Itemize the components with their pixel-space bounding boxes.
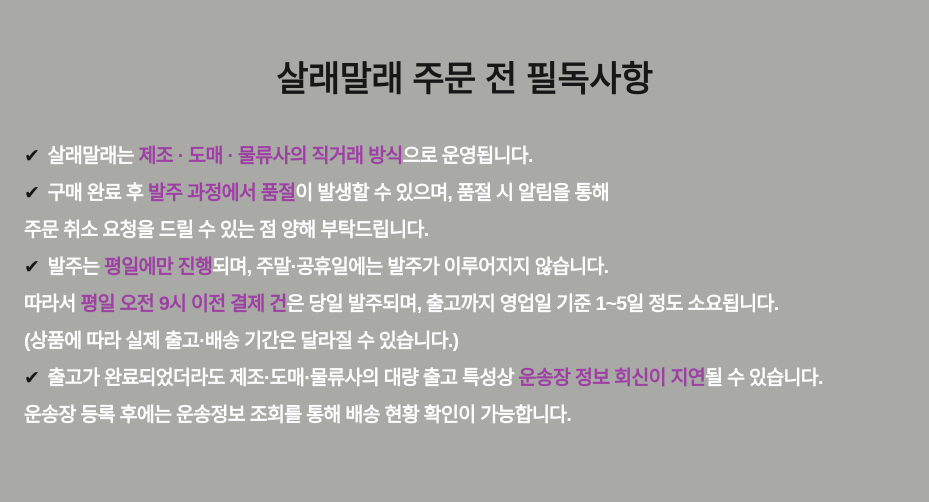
- check-icon: ✔: [24, 146, 43, 167]
- notice-text: 살래말래는: [43, 145, 139, 167]
- check-icon: ✔: [24, 257, 43, 278]
- check-icon: ✔: [24, 368, 43, 389]
- notice-line: (상품에 따라 실제 출고·배송 기간은 달라질 수 있습니다.): [24, 323, 919, 360]
- notice-line: ✔ 발주는 평일에만 진행되며, 주말·공휴일에는 발주가 이루어지지 않습니다…: [24, 249, 919, 286]
- notice-text: 출고가 완료되었더라도 제조·도매·물류사의 대량 출고 특성상: [43, 367, 519, 389]
- notice-text-highlight: 평일에만 진행: [104, 256, 212, 278]
- notice-text: 은 당일 발주되며, 출고까지 영업일 기준 1~5일 정도 소요됩니다.: [287, 293, 779, 315]
- notice-text: 따라서: [24, 293, 80, 315]
- notice-line: 주문 취소 요청을 드릴 수 있는 점 양해 부탁드립니다.: [24, 212, 919, 249]
- notice-line: 운송장 등록 후에는 운송정보 조회를 통해 배송 현황 확인이 가능합니다.: [24, 397, 919, 434]
- notice-text: 되며, 주말·공휴일에는 발주가 이루어지지 않습니다.: [212, 256, 608, 278]
- notice-text-highlight: 발주 과정에서 품절: [148, 182, 295, 204]
- notice-text: 될 수 있습니다.: [705, 367, 823, 389]
- notice-text: (상품에 따라 실제 출고·배송 기간은 달라질 수 있습니다.): [24, 330, 458, 352]
- notice-text: 발주는: [43, 256, 104, 278]
- notice-line: ✔ 구매 완료 후 발주 과정에서 품절이 발생할 수 있으며, 품절 시 알림…: [24, 175, 919, 212]
- notice-text-highlight: 제조 · 도매 · 물류사의 직거래 방식: [139, 145, 403, 167]
- check-icon: ✔: [24, 183, 43, 204]
- order-notice-card: 살래말래 주문 전 필독사항 ✔ 살래말래는 제조 · 도매 · 물류사의 직거…: [0, 0, 929, 502]
- notice-text: 주문 취소 요청을 드릴 수 있는 점 양해 부탁드립니다.: [24, 219, 429, 241]
- notice-text: 으로 운영됩니다.: [403, 145, 533, 167]
- notice-text: 운송장 등록 후에는 운송정보 조회를 통해 배송 현황 확인이 가능합니다.: [24, 404, 571, 426]
- notice-line: ✔ 출고가 완료되었더라도 제조·도매·물류사의 대량 출고 특성상 운송장 정…: [24, 360, 919, 397]
- notice-text-highlight: 평일 오전 9시 이전 결제 건: [80, 293, 286, 315]
- notice-body: ✔ 살래말래는 제조 · 도매 · 물류사의 직거래 방식으로 운영됩니다.✔ …: [24, 138, 919, 434]
- page-title: 살래말래 주문 전 필독사항: [0, 58, 929, 102]
- notice-line: 따라서 평일 오전 9시 이전 결제 건은 당일 발주되며, 출고까지 영업일 …: [24, 286, 919, 323]
- notice-text: 구매 완료 후: [43, 182, 148, 204]
- notice-line: ✔ 살래말래는 제조 · 도매 · 물류사의 직거래 방식으로 운영됩니다.: [24, 138, 919, 175]
- notice-text-highlight: 운송장 정보 회신이 지연: [519, 367, 706, 389]
- notice-text: 이 발생할 수 있으며, 품절 시 알림을 통해: [295, 182, 609, 204]
